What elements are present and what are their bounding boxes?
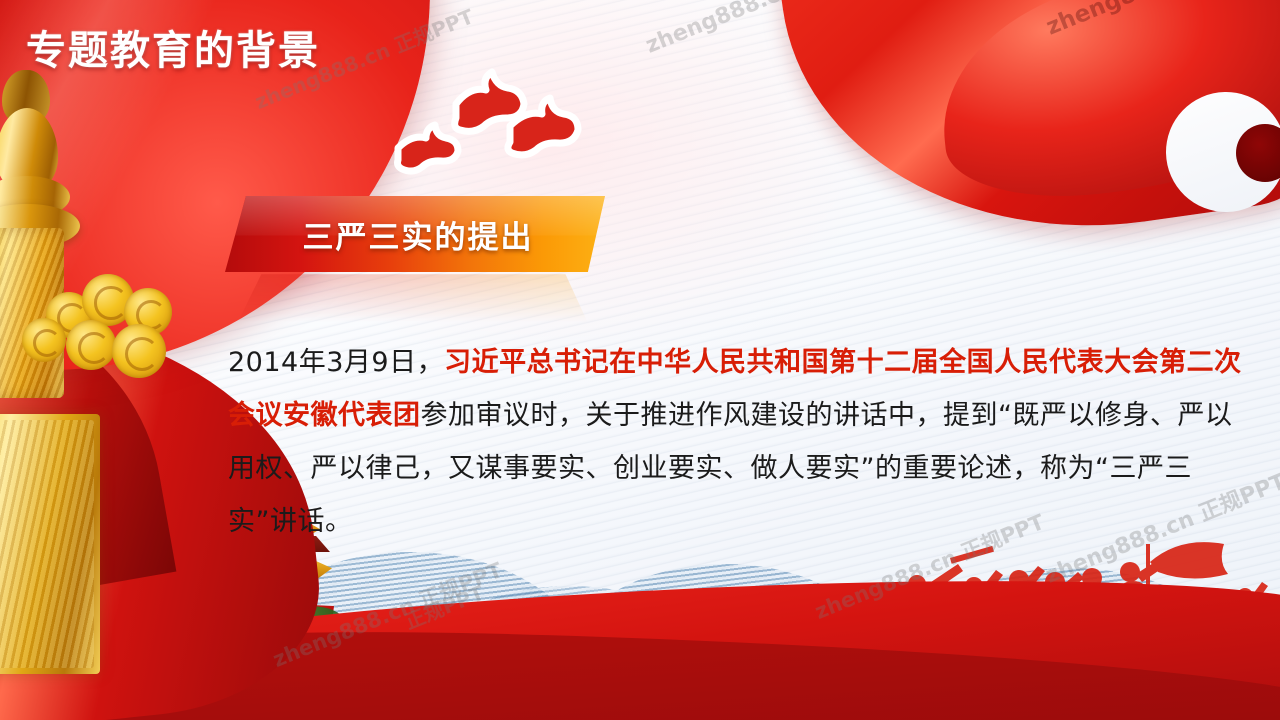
golden-carving-base-icon	[0, 414, 100, 674]
slide-canvas: 中华人民共和国万岁 世界人民大团结万岁	[0, 0, 1280, 720]
body-segment-date: 2014年3月9日，	[228, 347, 444, 378]
page-title: 专题教育的背景	[26, 18, 320, 76]
section-banner-shape: 三严三实的提出	[225, 196, 605, 272]
section-banner-reflection	[231, 274, 611, 336]
body-paragraph: 2014年3月9日，习近平总书记在中华人民共和国第十二届全国人民代表大会第二次会…	[228, 336, 1248, 548]
section-banner-label: 三严三实的提出	[225, 196, 605, 272]
golden-cloud-motif-icon	[46, 270, 178, 362]
section-banner[interactable]: 三严三实的提出	[225, 196, 645, 336]
flying-dove-icon	[360, 52, 610, 182]
